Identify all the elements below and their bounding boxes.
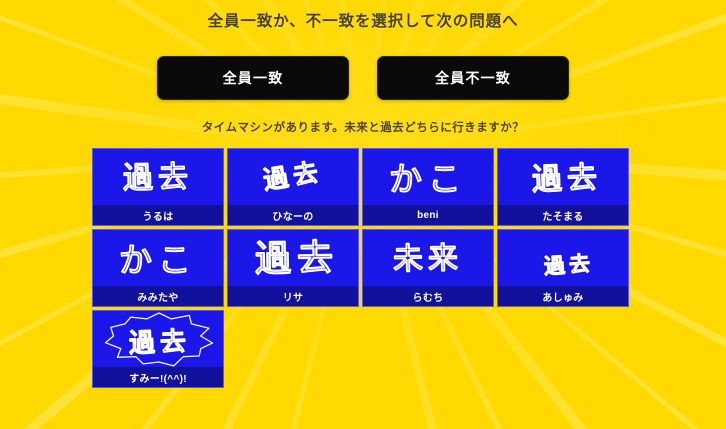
player-name-bar: beni xyxy=(363,205,493,225)
player-name: うるは xyxy=(143,208,174,223)
answer-grid: 過去うるは過去ひなーのかこbeni過去たそまるかこみみたや過去リサ未来らむち過去… xyxy=(92,148,628,388)
player-name: beni xyxy=(417,210,439,221)
handwritten-answer: 過去 xyxy=(228,149,358,207)
player-name: みみたや xyxy=(137,289,178,304)
answer-card[interactable]: 未来らむち xyxy=(362,229,494,307)
answer-card[interactable]: 過去うるは xyxy=(92,148,224,226)
answer-card[interactable]: 過去たそまる xyxy=(497,148,629,226)
handwritten-answer: 過去 xyxy=(498,230,628,288)
unanimous-button[interactable]: 全員一致 xyxy=(157,56,349,100)
player-name-bar: あしゅみ xyxy=(498,286,628,306)
answer-card[interactable]: 過去リサ xyxy=(227,229,359,307)
player-name: ひなーの xyxy=(272,208,313,223)
instruction-text: 全員一致か、不一致を選択して次の問題へ xyxy=(0,9,726,31)
svg-text:過去: 過去 xyxy=(123,160,194,196)
svg-text:過去: 過去 xyxy=(255,238,340,280)
handwritten-answer: 過去 xyxy=(93,149,223,207)
player-name-bar: らむち xyxy=(363,286,493,306)
player-name: たそまる xyxy=(542,208,583,223)
svg-text:かこ: かこ xyxy=(119,241,197,280)
answer-card[interactable]: かこみみたや xyxy=(92,229,224,307)
player-name-bar: たそまる xyxy=(498,205,628,225)
player-name: リサ xyxy=(283,289,304,304)
quiz-screen: 全員一致か、不一致を選択して次の問題へ 全員一致 全員不一致 タイムマシンがあり… xyxy=(0,0,726,429)
svg-text:過去: 過去 xyxy=(531,160,602,197)
handwritten-answer: 未来 xyxy=(363,230,493,288)
player-name-bar: みみたや xyxy=(93,286,223,306)
handwritten-answer: 過去 xyxy=(228,230,358,288)
question-prompt: タイムマシンがあります。未来と過去どちらに行きますか？ xyxy=(0,119,726,135)
svg-text:過去: 過去 xyxy=(261,157,325,195)
answer-card[interactable]: かこbeni xyxy=(362,148,494,226)
handwritten-answer: かこ xyxy=(93,230,223,288)
handwritten-answer: 過去 xyxy=(93,311,223,369)
not-unanimous-button[interactable]: 全員不一致 xyxy=(377,56,569,100)
player-name: あしゅみ xyxy=(542,289,583,304)
handwritten-answer: 過去 xyxy=(498,149,628,207)
handwritten-answer: かこ xyxy=(363,149,493,207)
verdict-button-row: 全員一致 全員不一致 xyxy=(0,56,726,100)
svg-text:過去: 過去 xyxy=(128,327,191,359)
player-name-bar: ひなーの xyxy=(228,205,358,225)
player-name: らむち xyxy=(413,289,444,304)
svg-text:かこ: かこ xyxy=(389,160,467,199)
player-name: すみー!(^^)! xyxy=(129,370,187,385)
player-name-bar: リサ xyxy=(228,286,358,306)
answer-card[interactable]: 過去ひなーの xyxy=(227,148,359,226)
answer-card[interactable]: 過去あしゅみ xyxy=(497,229,629,307)
player-name-bar: うるは xyxy=(93,205,223,225)
answer-card[interactable]: 過去すみー!(^^)! xyxy=(92,310,224,388)
svg-text:未来: 未来 xyxy=(393,241,464,277)
svg-text:過去: 過去 xyxy=(543,251,595,278)
player-name-bar: すみー!(^^)! xyxy=(93,367,223,387)
